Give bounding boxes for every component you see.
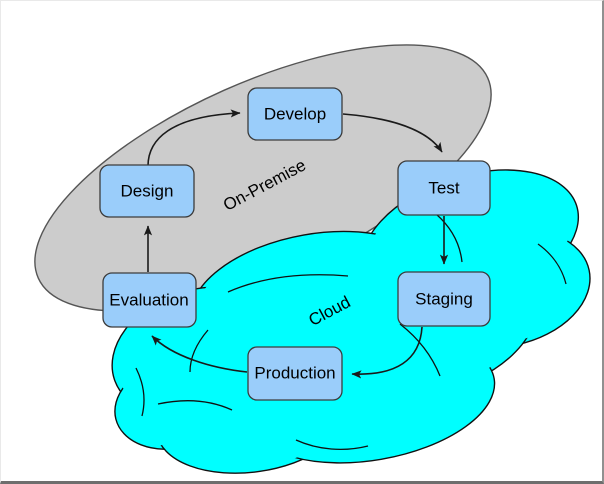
node-staging[interactable]: Staging: [398, 272, 490, 326]
node-evaluation-label: Evaluation: [109, 290, 188, 309]
node-production-label: Production: [254, 363, 335, 382]
node-test-label: Test: [428, 178, 459, 197]
node-evaluation[interactable]: Evaluation: [103, 273, 196, 327]
node-production[interactable]: Production: [248, 347, 342, 400]
node-develop[interactable]: Develop: [248, 88, 342, 140]
diagram-canvas: On-Premise Cloud Design Develop Test: [0, 0, 604, 484]
pipeline-diagram: On-Premise Cloud Design Develop Test: [0, 0, 604, 484]
node-design[interactable]: Design: [100, 165, 194, 217]
node-design-label: Design: [121, 181, 174, 200]
node-staging-label: Staging: [415, 289, 473, 308]
node-develop-label: Develop: [264, 104, 326, 123]
node-test[interactable]: Test: [398, 161, 490, 215]
